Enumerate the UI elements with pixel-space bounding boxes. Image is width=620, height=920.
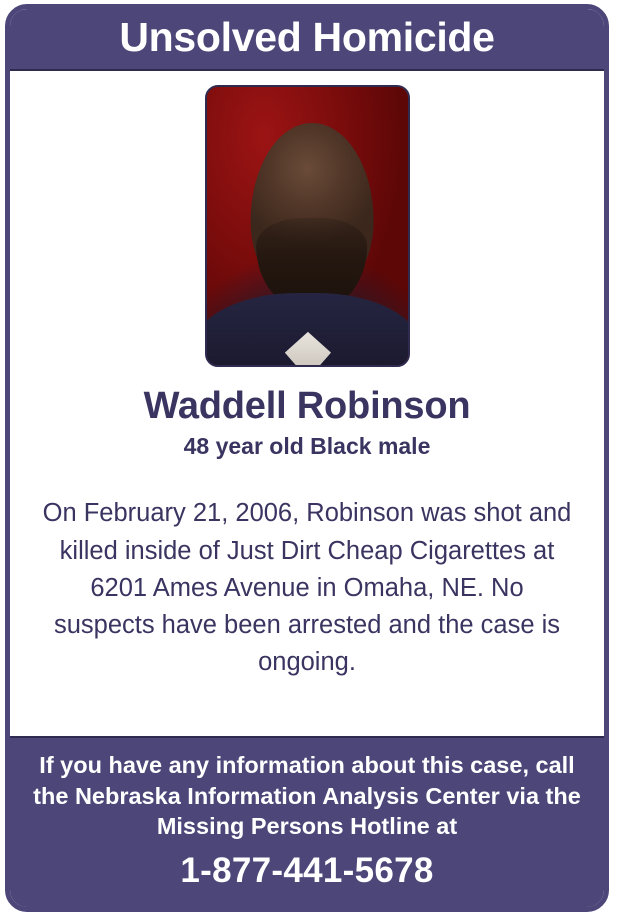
victim-descriptor: 48 year old Black male	[184, 434, 431, 459]
page-title: Unsolved Homicide	[20, 15, 594, 59]
poster-body: Waddell Robinson 48 year old Black male …	[10, 71, 604, 736]
tipline-message: If you have any information about this c…	[24, 750, 590, 842]
case-narrative: On February 21, 2006, Robinson was shot …	[37, 495, 577, 681]
unsolved-homicide-poster: Unsolved Homicide Waddell Robinson 48 ye…	[5, 4, 609, 912]
poster-footer-banner: If you have any information about this c…	[10, 736, 604, 907]
tipline-phone-number[interactable]: 1-877-441-5678	[24, 851, 590, 891]
poster-header-banner: Unsolved Homicide	[10, 9, 604, 71]
victim-photo	[205, 85, 410, 367]
victim-name: Waddell Robinson	[144, 387, 471, 427]
